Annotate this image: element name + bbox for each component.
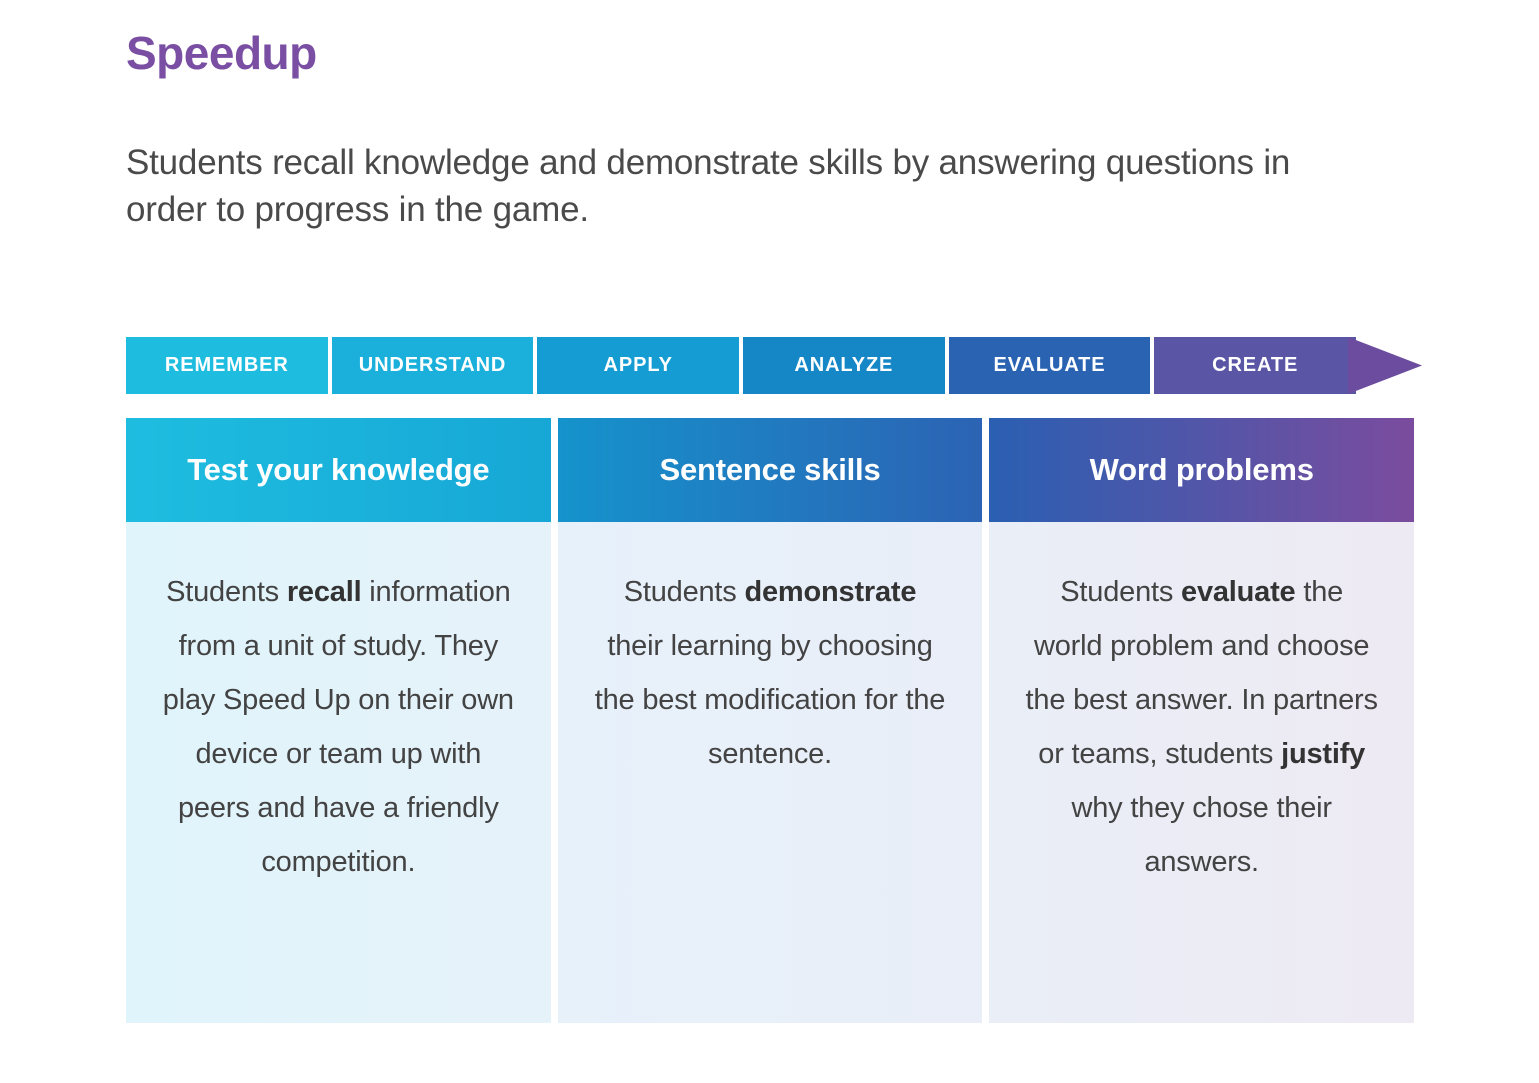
card-row: Test your knowledge Students recall info… xyxy=(126,418,1414,1023)
taxonomy-segment-understand: UNDERSTAND xyxy=(332,337,534,394)
taxonomy-segment-evaluate: EVALUATE xyxy=(949,337,1151,394)
card-header: Test your knowledge xyxy=(126,418,551,522)
card-body: Students recall information from a unit … xyxy=(126,522,551,1023)
card-test-your-knowledge: Test your knowledge Students recall info… xyxy=(126,418,551,1023)
taxonomy-segment-apply: APPLY xyxy=(537,337,739,394)
page-subtitle: Students recall knowledge and demonstrat… xyxy=(126,139,1366,234)
taxonomy-segment-create: CREATE xyxy=(1154,337,1356,394)
arrow-right-icon xyxy=(1348,319,1422,412)
card-body: Students demonstrate their learning by c… xyxy=(558,522,983,1023)
card-body: Students evaluate the world problem and … xyxy=(989,522,1414,1023)
taxonomy-segment-label: ANALYZE xyxy=(794,354,893,377)
taxonomy-segment-label: REMEMBER xyxy=(165,354,289,377)
card-header: Sentence skills xyxy=(558,418,983,522)
speedup-infographic: Speedup Students recall knowledge and de… xyxy=(0,0,1539,1083)
page-title: Speedup xyxy=(126,28,317,79)
taxonomy-bar: REMEMBER UNDERSTAND APPLY ANALYZE EVALUA… xyxy=(126,337,1356,394)
taxonomy-segment-remember: REMEMBER xyxy=(126,337,328,394)
taxonomy-segment-label: UNDERSTAND xyxy=(359,354,507,377)
card-header: Word problems xyxy=(989,418,1414,522)
taxonomy-segment-label: CREATE xyxy=(1212,354,1298,377)
card-word-problems: Word problems Students evaluate the worl… xyxy=(989,418,1414,1023)
taxonomy-segment-label: EVALUATE xyxy=(994,354,1106,377)
taxonomy-segment-analyze: ANALYZE xyxy=(743,337,945,394)
card-sentence-skills: Sentence skills Students demonstrate the… xyxy=(558,418,983,1023)
taxonomy-segment-label: APPLY xyxy=(604,354,673,377)
